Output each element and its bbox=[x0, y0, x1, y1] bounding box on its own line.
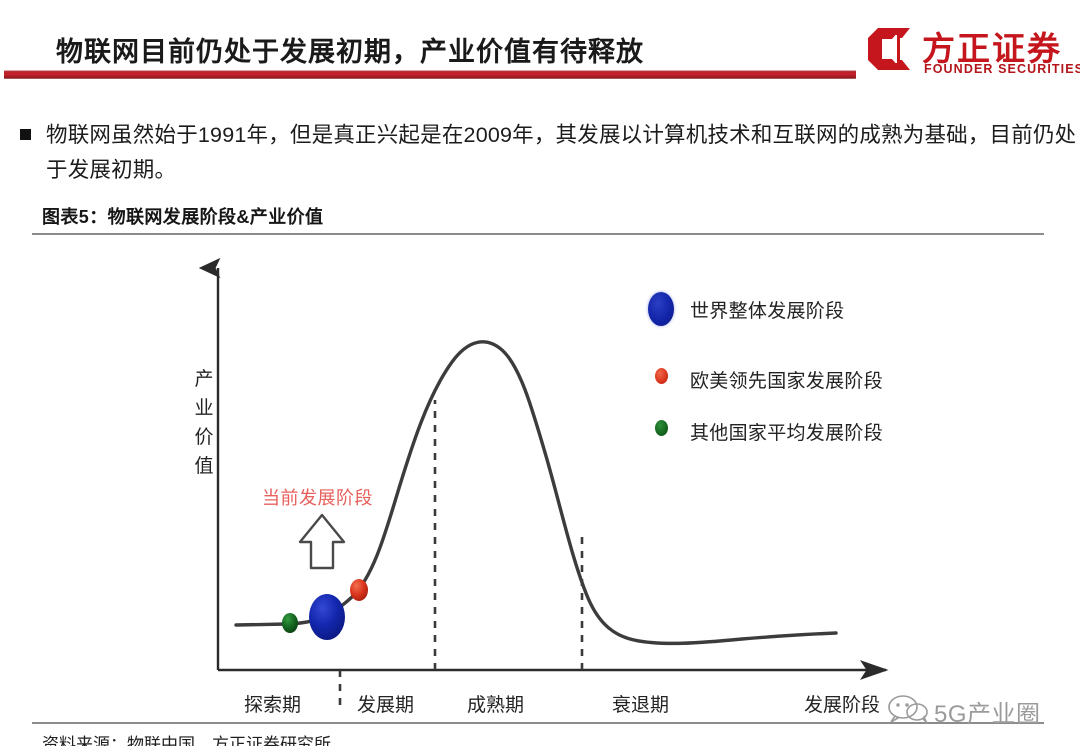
x-tick-label-2: 成熟期 bbox=[467, 690, 524, 717]
legend-swatch-green-icon bbox=[655, 420, 668, 436]
square-bullet-icon bbox=[20, 129, 31, 140]
y-axis-label: 产业价值 bbox=[192, 365, 216, 481]
legend-label-world: 世界整体发展阶段 bbox=[690, 296, 844, 323]
watermark: 5G产业圈 bbox=[886, 692, 1072, 728]
x-tick-label-0: 探索期 bbox=[244, 690, 301, 717]
chart-canvas bbox=[0, 240, 1080, 708]
x-tick-label-3: 衰退期 bbox=[612, 690, 669, 717]
caption-divider bbox=[32, 233, 1044, 235]
brand-name-en: FOUNDER SECURITIES bbox=[924, 62, 1080, 76]
legend-swatch-blue-icon bbox=[648, 292, 674, 326]
source-note: 资料来源：物联中国，方正证券研究所 bbox=[42, 730, 331, 746]
title-divider-bar bbox=[4, 70, 856, 79]
wechat-bubble-icon bbox=[886, 694, 930, 724]
current-stage-annotation: 当前发展阶段 bbox=[262, 484, 373, 510]
legend-label-other: 其他国家平均发展阶段 bbox=[690, 418, 883, 445]
brand-logo: 方正证券 FOUNDER SECURITIES bbox=[866, 22, 1074, 84]
hollow-up-arrow-icon bbox=[300, 515, 344, 568]
marker-world-overall bbox=[309, 594, 345, 640]
marker-other-countries bbox=[282, 613, 298, 633]
founder-hexagon-logo-icon bbox=[866, 26, 914, 72]
legend-swatch-red-icon bbox=[655, 368, 668, 384]
slide-header: 物联网目前仍处于发展初期，产业价值有待释放 方正证券 FOUNDER SECUR… bbox=[0, 0, 1080, 96]
page-title: 物联网目前仍处于发展初期，产业价值有待释放 bbox=[56, 30, 644, 69]
slide-page: 物联网目前仍处于发展初期，产业价值有待释放 方正证券 FOUNDER SECUR… bbox=[0, 0, 1080, 746]
marker-western-leading bbox=[350, 579, 368, 601]
body-paragraph: 物联网虽然始于1991年，但是真正兴起是在2009年，其发展以计算机技术和互联网… bbox=[46, 118, 1078, 188]
exhibit-caption: 图表5：物联网发展阶段&产业价值 bbox=[42, 203, 323, 229]
chart-figure: 产业价值 发展阶段 探索期 发展期 成熟期 衰退期 当前发展阶段 世界整体发展阶… bbox=[0, 240, 1080, 708]
legend-label-western: 欧美领先国家发展阶段 bbox=[690, 366, 883, 393]
x-tick-label-1: 发展期 bbox=[357, 690, 414, 717]
x-axis-label: 发展阶段 bbox=[804, 690, 880, 717]
watermark-text: 5G产业圈 bbox=[934, 694, 1041, 729]
